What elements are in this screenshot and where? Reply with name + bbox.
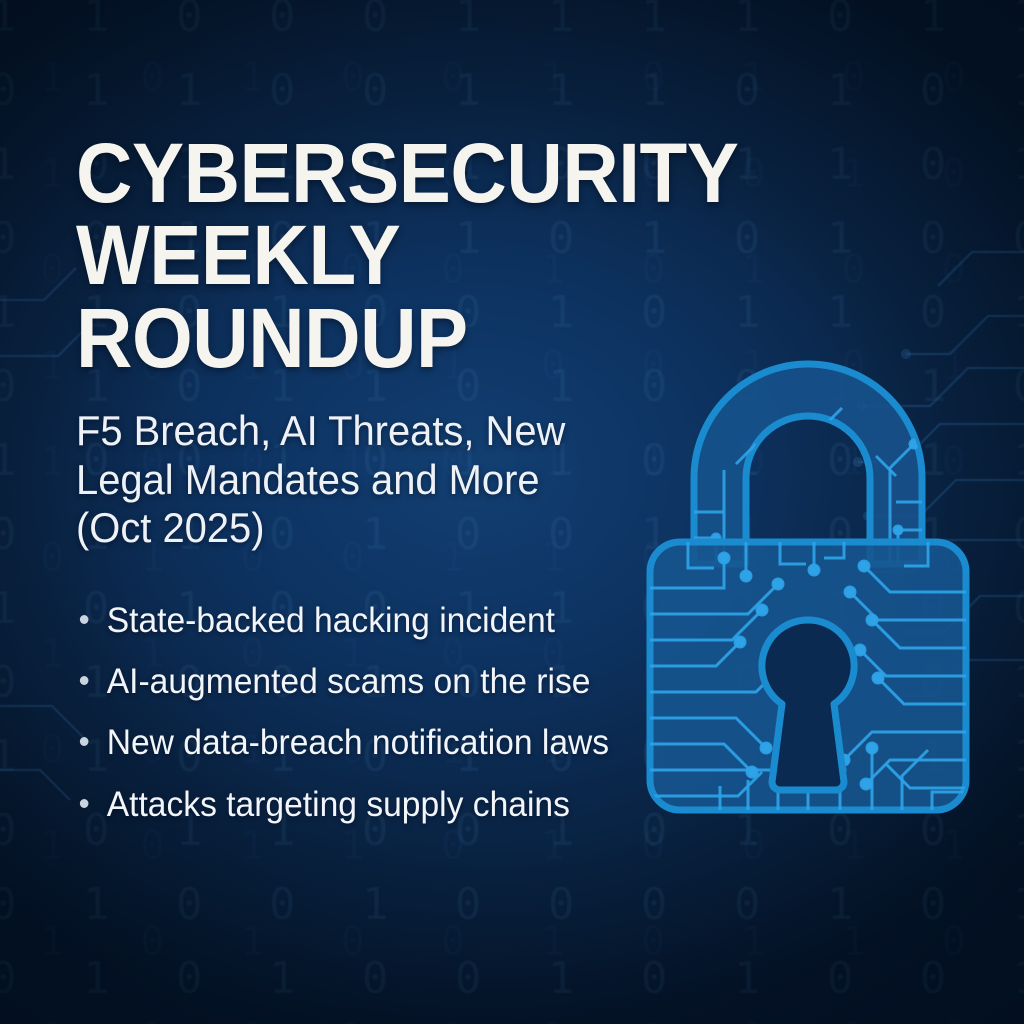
- list-item-label: Attacks targeting supply chains: [107, 785, 570, 824]
- bullet-dot-icon: [80, 799, 89, 808]
- padlock-body: [650, 542, 966, 810]
- bullet-dot-icon: [80, 737, 89, 746]
- page-title: Cybersecurity Weekly Roundup: [76, 132, 653, 379]
- bullet-dot-icon: [80, 676, 89, 685]
- page-subtitle: F5 Breach, AI Threats, New Legal Mandate…: [76, 407, 646, 553]
- list-item-label: New data-breach notification laws: [107, 723, 609, 762]
- list-item: New data-breach notification laws: [76, 723, 671, 762]
- cybersecurity-poster: 1 1 0 0 0 1 1 1 1 0 1 1 0 1 0 1 0 1 1 0 …: [0, 0, 1024, 1024]
- text-content: Cybersecurity Weekly Roundup F5 Breach, …: [76, 132, 696, 846]
- list-item: AI-augmented scams on the rise: [76, 662, 671, 701]
- list-item-label: AI-augmented scams on the rise: [107, 662, 591, 701]
- highlights-list: State-backed hacking incidentAI-augmente…: [76, 601, 696, 824]
- bullet-dot-icon: [80, 615, 89, 624]
- list-item: Attacks targeting supply chains: [76, 785, 671, 824]
- list-item-label: State-backed hacking incident: [107, 601, 555, 640]
- padlock-shackle: [694, 364, 922, 564]
- list-item: State-backed hacking incident: [76, 601, 671, 640]
